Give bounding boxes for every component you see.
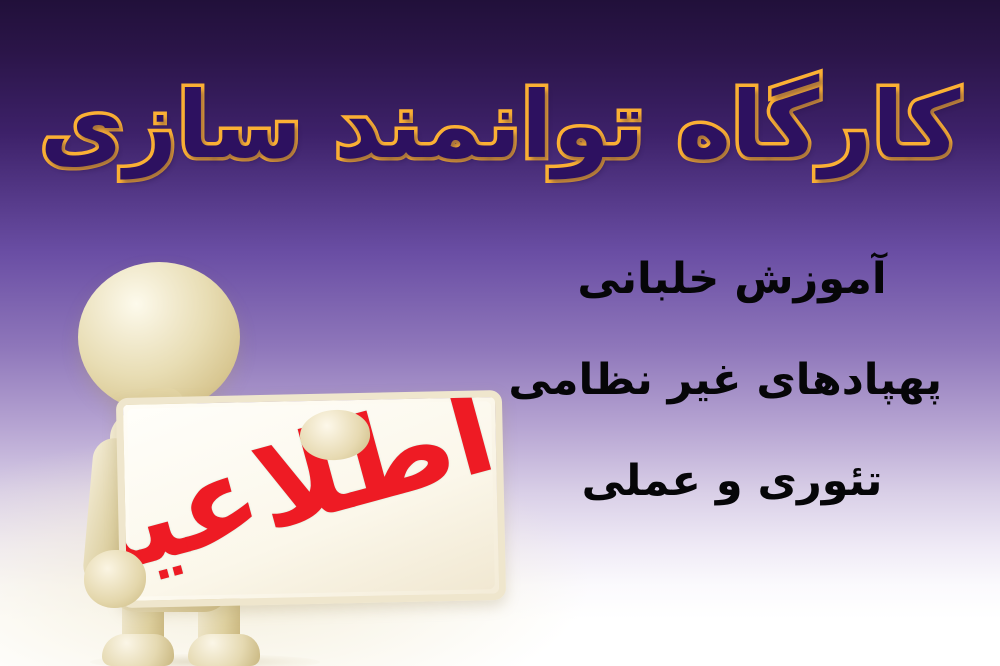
page-title: کارگاه توانمند سازی (0, 74, 1000, 177)
figure-foot-left (102, 634, 174, 666)
course-description-block: آموزش خلبانی پهپادهای غیر نظامی تئوری و … (522, 258, 942, 503)
course-line-3: تئوری و عملی (522, 460, 942, 503)
poster-canvas: کارگاه توانمند سازی اطلاعیه آموزش خلبانی… (0, 0, 1000, 666)
figure-hand-left (84, 550, 146, 608)
course-line-1: آموزش خلبانی (522, 258, 942, 301)
person-3d-icon: اطلاعیه (48, 262, 518, 666)
course-line-2: پهپادهای غیر نظامی (522, 359, 942, 402)
figure-foot-right (188, 634, 260, 666)
